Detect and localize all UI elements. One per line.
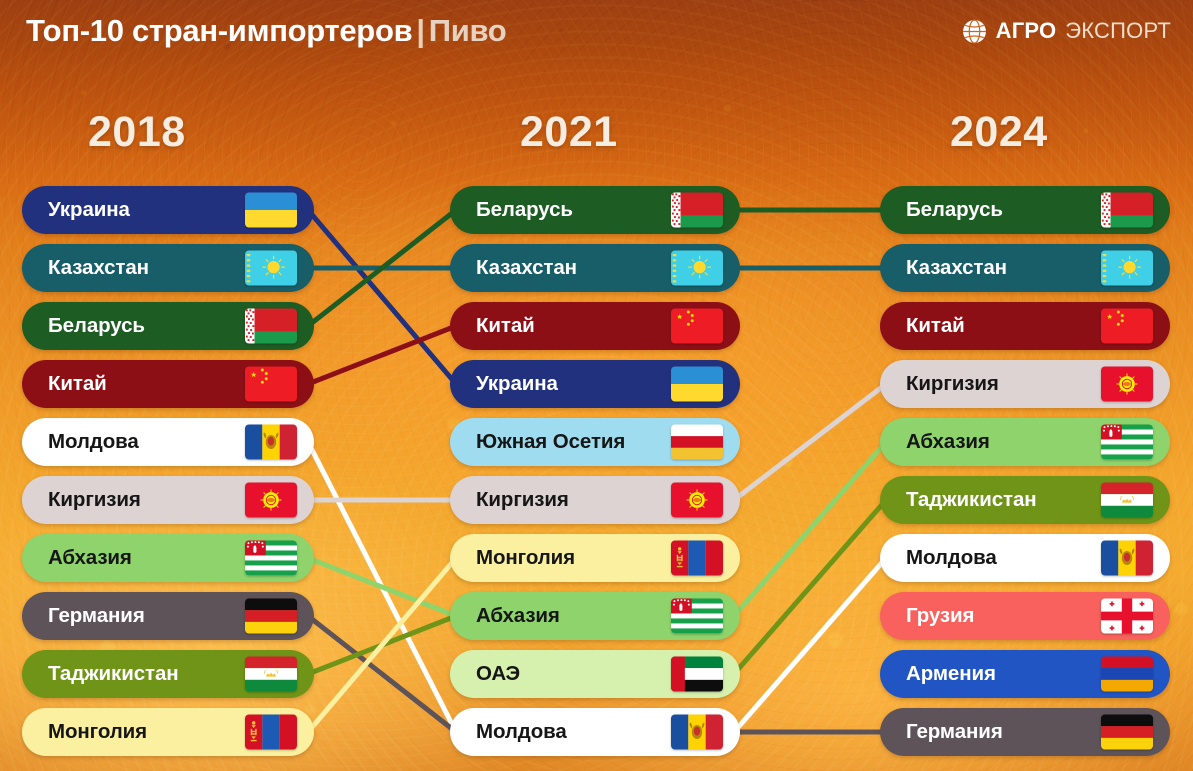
rank-pill[interactable]: Киргизия: [22, 476, 314, 524]
rank-pill[interactable]: Беларусь: [450, 186, 740, 234]
rank-pill[interactable]: Киргизия: [450, 476, 740, 524]
globe-icon: [962, 19, 987, 44]
flag-icon: [1101, 425, 1153, 460]
country-name: Китай: [48, 372, 107, 396]
rank-pill[interactable]: Монголия: [450, 534, 740, 582]
rank-pill[interactable]: Казахстан: [450, 244, 740, 292]
flag-icon: [245, 599, 297, 634]
flag-icon: [671, 367, 723, 402]
year-label-2024: 2024: [950, 108, 1048, 157]
flag-icon: [1101, 483, 1153, 518]
flag-icon: [1101, 367, 1153, 402]
country-name: Беларусь: [906, 198, 1003, 222]
country-name: Казахстан: [906, 256, 1007, 280]
flag-icon: [671, 251, 723, 286]
rank-pill[interactable]: Абхазия: [880, 418, 1170, 466]
country-name: Китай: [476, 314, 535, 338]
flag-icon: [245, 715, 297, 750]
header-bar: Топ-10 стран-импортеров|Пиво АГРОЭКСПОРТ: [0, 0, 1193, 62]
flag-icon: [245, 193, 297, 228]
country-name: Беларусь: [476, 198, 573, 222]
country-name: Таджикистан: [906, 488, 1037, 512]
flag-icon: [671, 193, 723, 228]
page-title: Топ-10 стран-импортеров|Пиво: [26, 13, 506, 49]
flag-icon: [671, 657, 723, 692]
rank-connector: [308, 616, 456, 732]
flag-icon: [1101, 251, 1153, 286]
title-subtitle: Пиво: [429, 13, 507, 48]
flag-icon: [245, 657, 297, 692]
rank-connector: [308, 210, 456, 384]
rank-pill[interactable]: Южная Осетия: [450, 418, 740, 466]
rank-connector: [734, 384, 886, 500]
country-name: Монголия: [48, 720, 147, 744]
rank-pill[interactable]: Китай: [880, 302, 1170, 350]
country-name: Молдова: [906, 546, 997, 570]
country-name: Абхазия: [476, 604, 560, 628]
country-name: Монголия: [476, 546, 575, 570]
country-name: Киргизия: [48, 488, 141, 512]
flag-icon: [245, 251, 297, 286]
country-name: ОАЭ: [476, 662, 520, 686]
country-name: Китай: [906, 314, 965, 338]
country-name: Армения: [906, 662, 996, 686]
country-name: Молдова: [476, 720, 567, 744]
title-main: Топ-10 стран-импортеров: [26, 13, 412, 48]
year-label-2018: 2018: [88, 108, 186, 157]
country-name: Беларусь: [48, 314, 145, 338]
flag-icon: [245, 425, 297, 460]
rank-pill[interactable]: Молдова: [22, 418, 314, 466]
rank-pill[interactable]: Абхазия: [450, 592, 740, 640]
rank-pill[interactable]: Казахстан: [22, 244, 314, 292]
rank-pill[interactable]: Беларусь: [880, 186, 1170, 234]
logo-text-bold: АГРО: [996, 18, 1057, 44]
country-name: Абхазия: [48, 546, 132, 570]
rank-pill[interactable]: Молдова: [880, 534, 1170, 582]
flag-icon: [1101, 541, 1153, 576]
country-name: Грузия: [906, 604, 974, 628]
rank-pill[interactable]: ОАЭ: [450, 650, 740, 698]
rank-pill[interactable]: Монголия: [22, 708, 314, 756]
year-label-2021: 2021: [520, 108, 618, 157]
rank-pill[interactable]: Киргизия: [880, 360, 1170, 408]
rank-pill[interactable]: Украина: [450, 360, 740, 408]
rank-pill[interactable]: Казахстан: [880, 244, 1170, 292]
rank-pill[interactable]: Германия: [880, 708, 1170, 756]
flag-icon: [245, 367, 297, 402]
rank-pill[interactable]: Таджикистан: [880, 476, 1170, 524]
country-name: Киргизия: [476, 488, 569, 512]
rank-pill[interactable]: Китай: [450, 302, 740, 350]
flag-icon: [671, 483, 723, 518]
country-name: Украина: [48, 198, 130, 222]
flag-icon: [1101, 193, 1153, 228]
country-name: Германия: [906, 720, 1003, 744]
country-name: Таджикистан: [48, 662, 179, 686]
logo-text-light: ЭКСПОРТ: [1065, 18, 1171, 44]
country-name: Абхазия: [906, 430, 990, 454]
flag-icon: [1101, 657, 1153, 692]
flag-icon: [671, 309, 723, 344]
country-name: Германия: [48, 604, 145, 628]
flag-icon: [671, 425, 723, 460]
rank-pill[interactable]: Абхазия: [22, 534, 314, 582]
rank-pill[interactable]: Германия: [22, 592, 314, 640]
rank-pill[interactable]: Китай: [22, 360, 314, 408]
country-name: Южная Осетия: [476, 430, 625, 454]
flag-icon: [671, 599, 723, 634]
country-name: Киргизия: [906, 372, 999, 396]
flag-icon: [1101, 309, 1153, 344]
rank-pill[interactable]: Украина: [22, 186, 314, 234]
rank-pill[interactable]: Армения: [880, 650, 1170, 698]
rank-pill[interactable]: Грузия: [880, 592, 1170, 640]
flag-icon: [245, 541, 297, 576]
country-name: Украина: [476, 372, 558, 396]
country-name: Казахстан: [476, 256, 577, 280]
title-separator: |: [412, 13, 428, 48]
flag-icon: [245, 309, 297, 344]
flag-icon: [245, 483, 297, 518]
flag-icon: [1101, 599, 1153, 634]
rank-pill[interactable]: Беларусь: [22, 302, 314, 350]
flag-icon: [1101, 715, 1153, 750]
country-name: Молдова: [48, 430, 139, 454]
country-name: Казахстан: [48, 256, 149, 280]
rank-pill[interactable]: Таджикистан: [22, 650, 314, 698]
rank-pill[interactable]: Молдова: [450, 708, 740, 756]
agroexport-logo[interactable]: АГРОЭКСПОРТ: [962, 18, 1171, 44]
flag-icon: [671, 715, 723, 750]
flag-icon: [671, 541, 723, 576]
